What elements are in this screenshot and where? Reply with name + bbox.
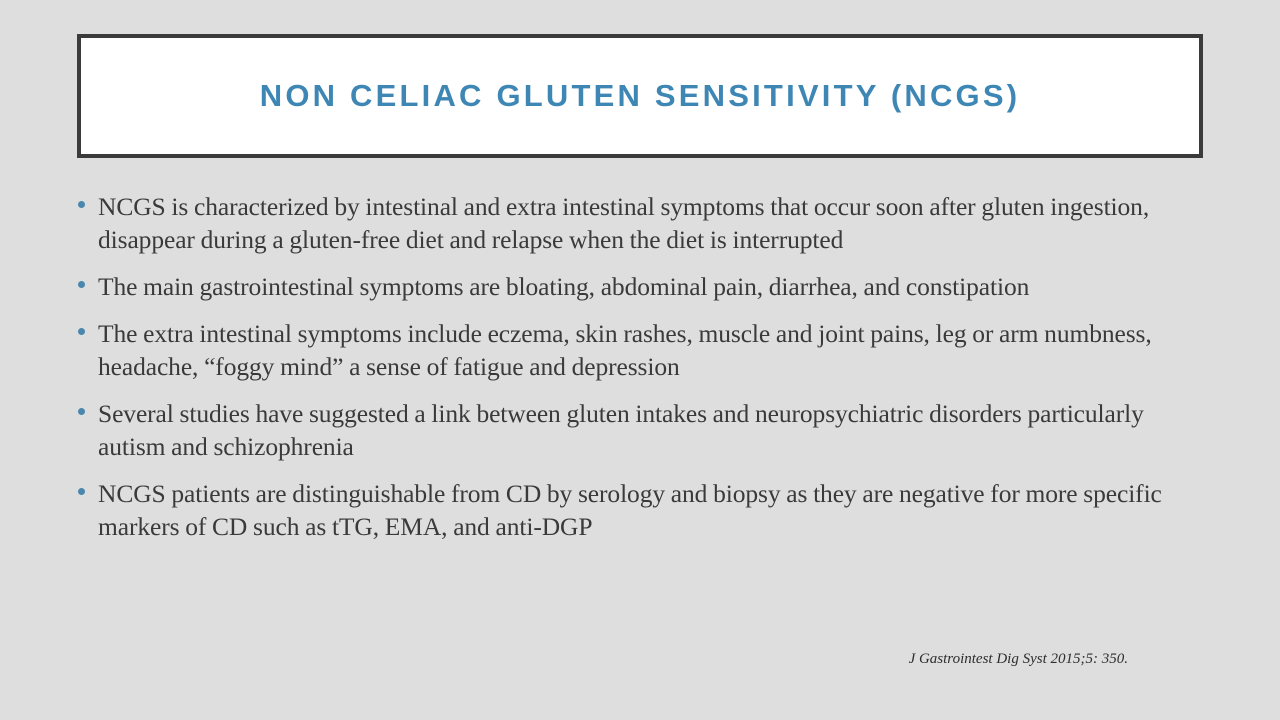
title-box: Non Celiac Gluten Sensitivity (NCGS) xyxy=(77,34,1203,158)
list-item: NCGS patients are distinguishable from C… xyxy=(78,477,1188,543)
page-title: Non Celiac Gluten Sensitivity (NCGS) xyxy=(260,79,1021,113)
bullet-dot-icon xyxy=(78,270,98,288)
bullet-dot-icon xyxy=(78,477,98,495)
slide-canvas: Non Celiac Gluten Sensitivity (NCGS) NCG… xyxy=(0,0,1280,720)
list-item: The extra intestinal symptoms include ec… xyxy=(78,317,1188,383)
bullet-dot-icon xyxy=(78,190,98,208)
list-item: NCGS is characterized by intestinal and … xyxy=(78,190,1188,256)
list-item-text: Several studies have suggested a link be… xyxy=(98,397,1188,463)
list-item: The main gastrointestinal symptoms are b… xyxy=(78,270,1188,303)
source-citation: J Gastrointest Dig Syst 2015;5: 350. xyxy=(909,651,1128,668)
list-item-text: The main gastrointestinal symptoms are b… xyxy=(98,270,1188,303)
bullet-dot-icon xyxy=(78,317,98,335)
list-item-text: NCGS is characterized by intestinal and … xyxy=(98,190,1188,256)
list-item-text: NCGS patients are distinguishable from C… xyxy=(98,477,1188,543)
bullet-dot-icon xyxy=(78,397,98,415)
list-item-text: The extra intestinal symptoms include ec… xyxy=(98,317,1188,383)
bullet-list: NCGS is characterized by intestinal and … xyxy=(78,190,1188,557)
list-item: Several studies have suggested a link be… xyxy=(78,397,1188,463)
